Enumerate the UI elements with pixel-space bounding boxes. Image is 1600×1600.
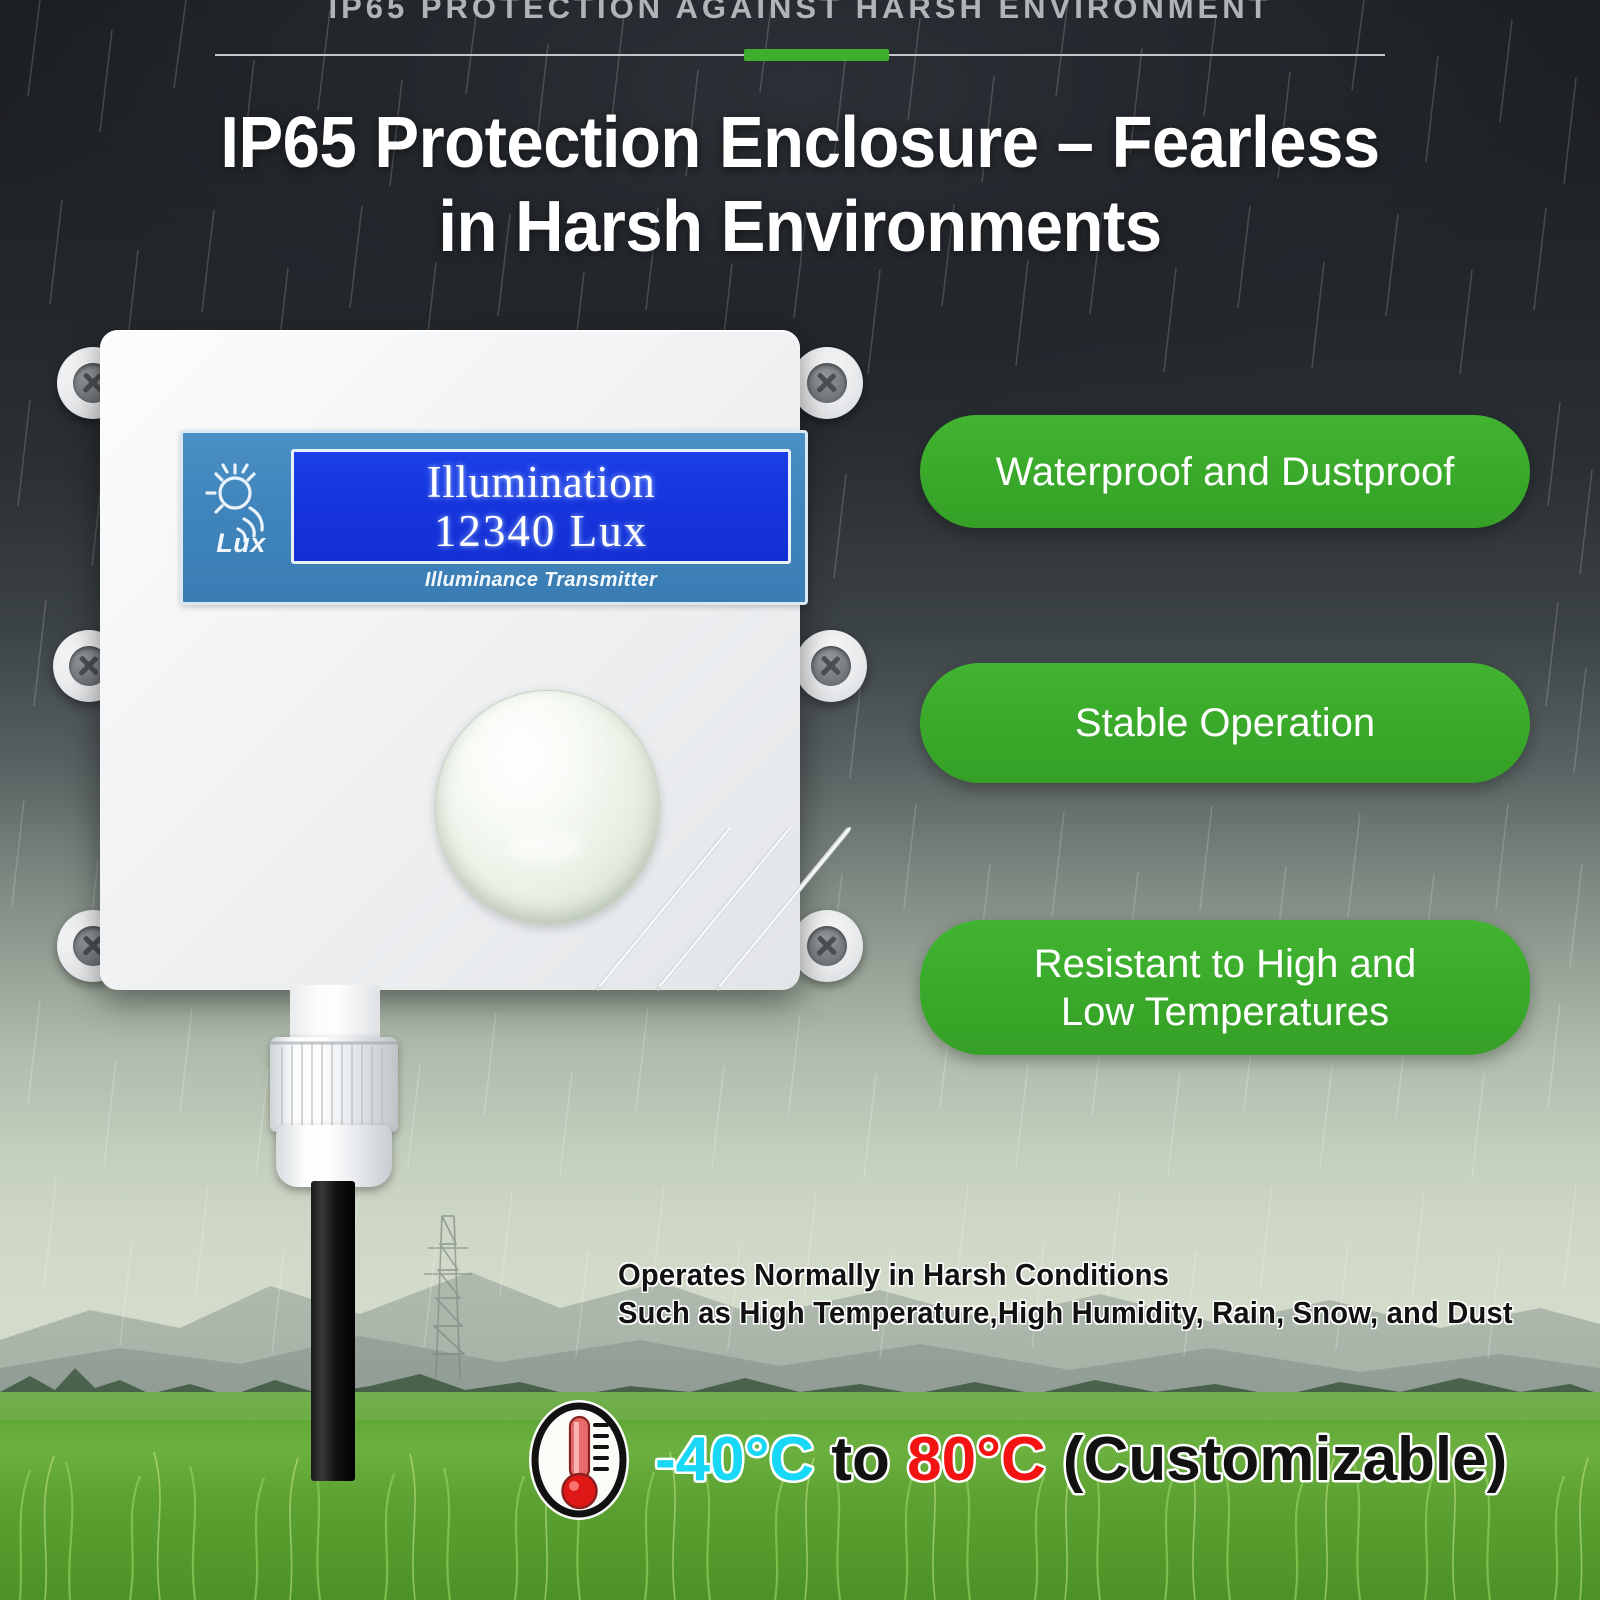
device-model-label: Illuminance Transmitter (291, 569, 791, 592)
poster-canvas: IP65 PROTECTION AGAINST HARSH ENVIRONMEN… (0, 0, 1600, 1600)
feature-pill-waterproof[interactable]: Waterproof and Dustproof (920, 415, 1530, 528)
conditions-caption: Operates Normally in Harsh Conditions Su… (618, 1256, 1530, 1332)
temperature-range-badge: -40°C to 80°C (Customizable) (525, 1390, 1507, 1530)
lcd-line-illumination: Illumination (427, 458, 655, 506)
page-title: IP65 Protection Enclosure – Fearless in … (112, 101, 1488, 269)
mounting-tab-middle-right (795, 630, 867, 702)
screw-icon (807, 363, 847, 403)
temp-connector: to (814, 1425, 907, 1494)
header-divider (215, 48, 1385, 62)
enclosure-ridge-lines (580, 760, 870, 1000)
lux-icon-label: Lux (199, 528, 283, 559)
temperature-range-text: -40°C to 80°C (Customizable) (655, 1425, 1507, 1495)
illuminance-transmitter-device: Lux Illumination 12340 Lux Illuminance T… (45, 325, 875, 1255)
lcd-screen: Illumination 12340 Lux (291, 449, 791, 564)
feature-pill-temperature-resistant[interactable]: Resistant to High and Low Temperatures (920, 920, 1530, 1055)
cable-gland-cap (276, 1125, 392, 1187)
lcd-line-value: 12340 Lux (434, 506, 648, 556)
temp-high-value: 80°C (907, 1425, 1046, 1494)
cable-gland-neck (290, 985, 380, 1043)
thermometer-glyph (525, 1395, 633, 1525)
device-label-panel: Lux Illumination 12340 Lux Illuminance T… (180, 430, 808, 605)
thermometer-icon (525, 1395, 633, 1525)
divider-accent (744, 49, 889, 61)
gland-ribs (270, 1037, 398, 1132)
kicker-text: IP65 PROTECTION AGAINST HARSH ENVIRONMEN… (0, 0, 1600, 26)
cable-gland-nut (270, 1037, 398, 1132)
temp-customizable-note: (Customizable) (1046, 1425, 1508, 1494)
mounting-tab-top-right (791, 347, 863, 419)
temp-low-value: -40°C (655, 1425, 814, 1494)
feature-pill-stable-operation[interactable]: Stable Operation (920, 663, 1530, 783)
sensor-cable (311, 1181, 355, 1481)
screw-icon (811, 646, 851, 686)
device-enclosure: Lux Illumination 12340 Lux Illuminance T… (100, 330, 800, 990)
